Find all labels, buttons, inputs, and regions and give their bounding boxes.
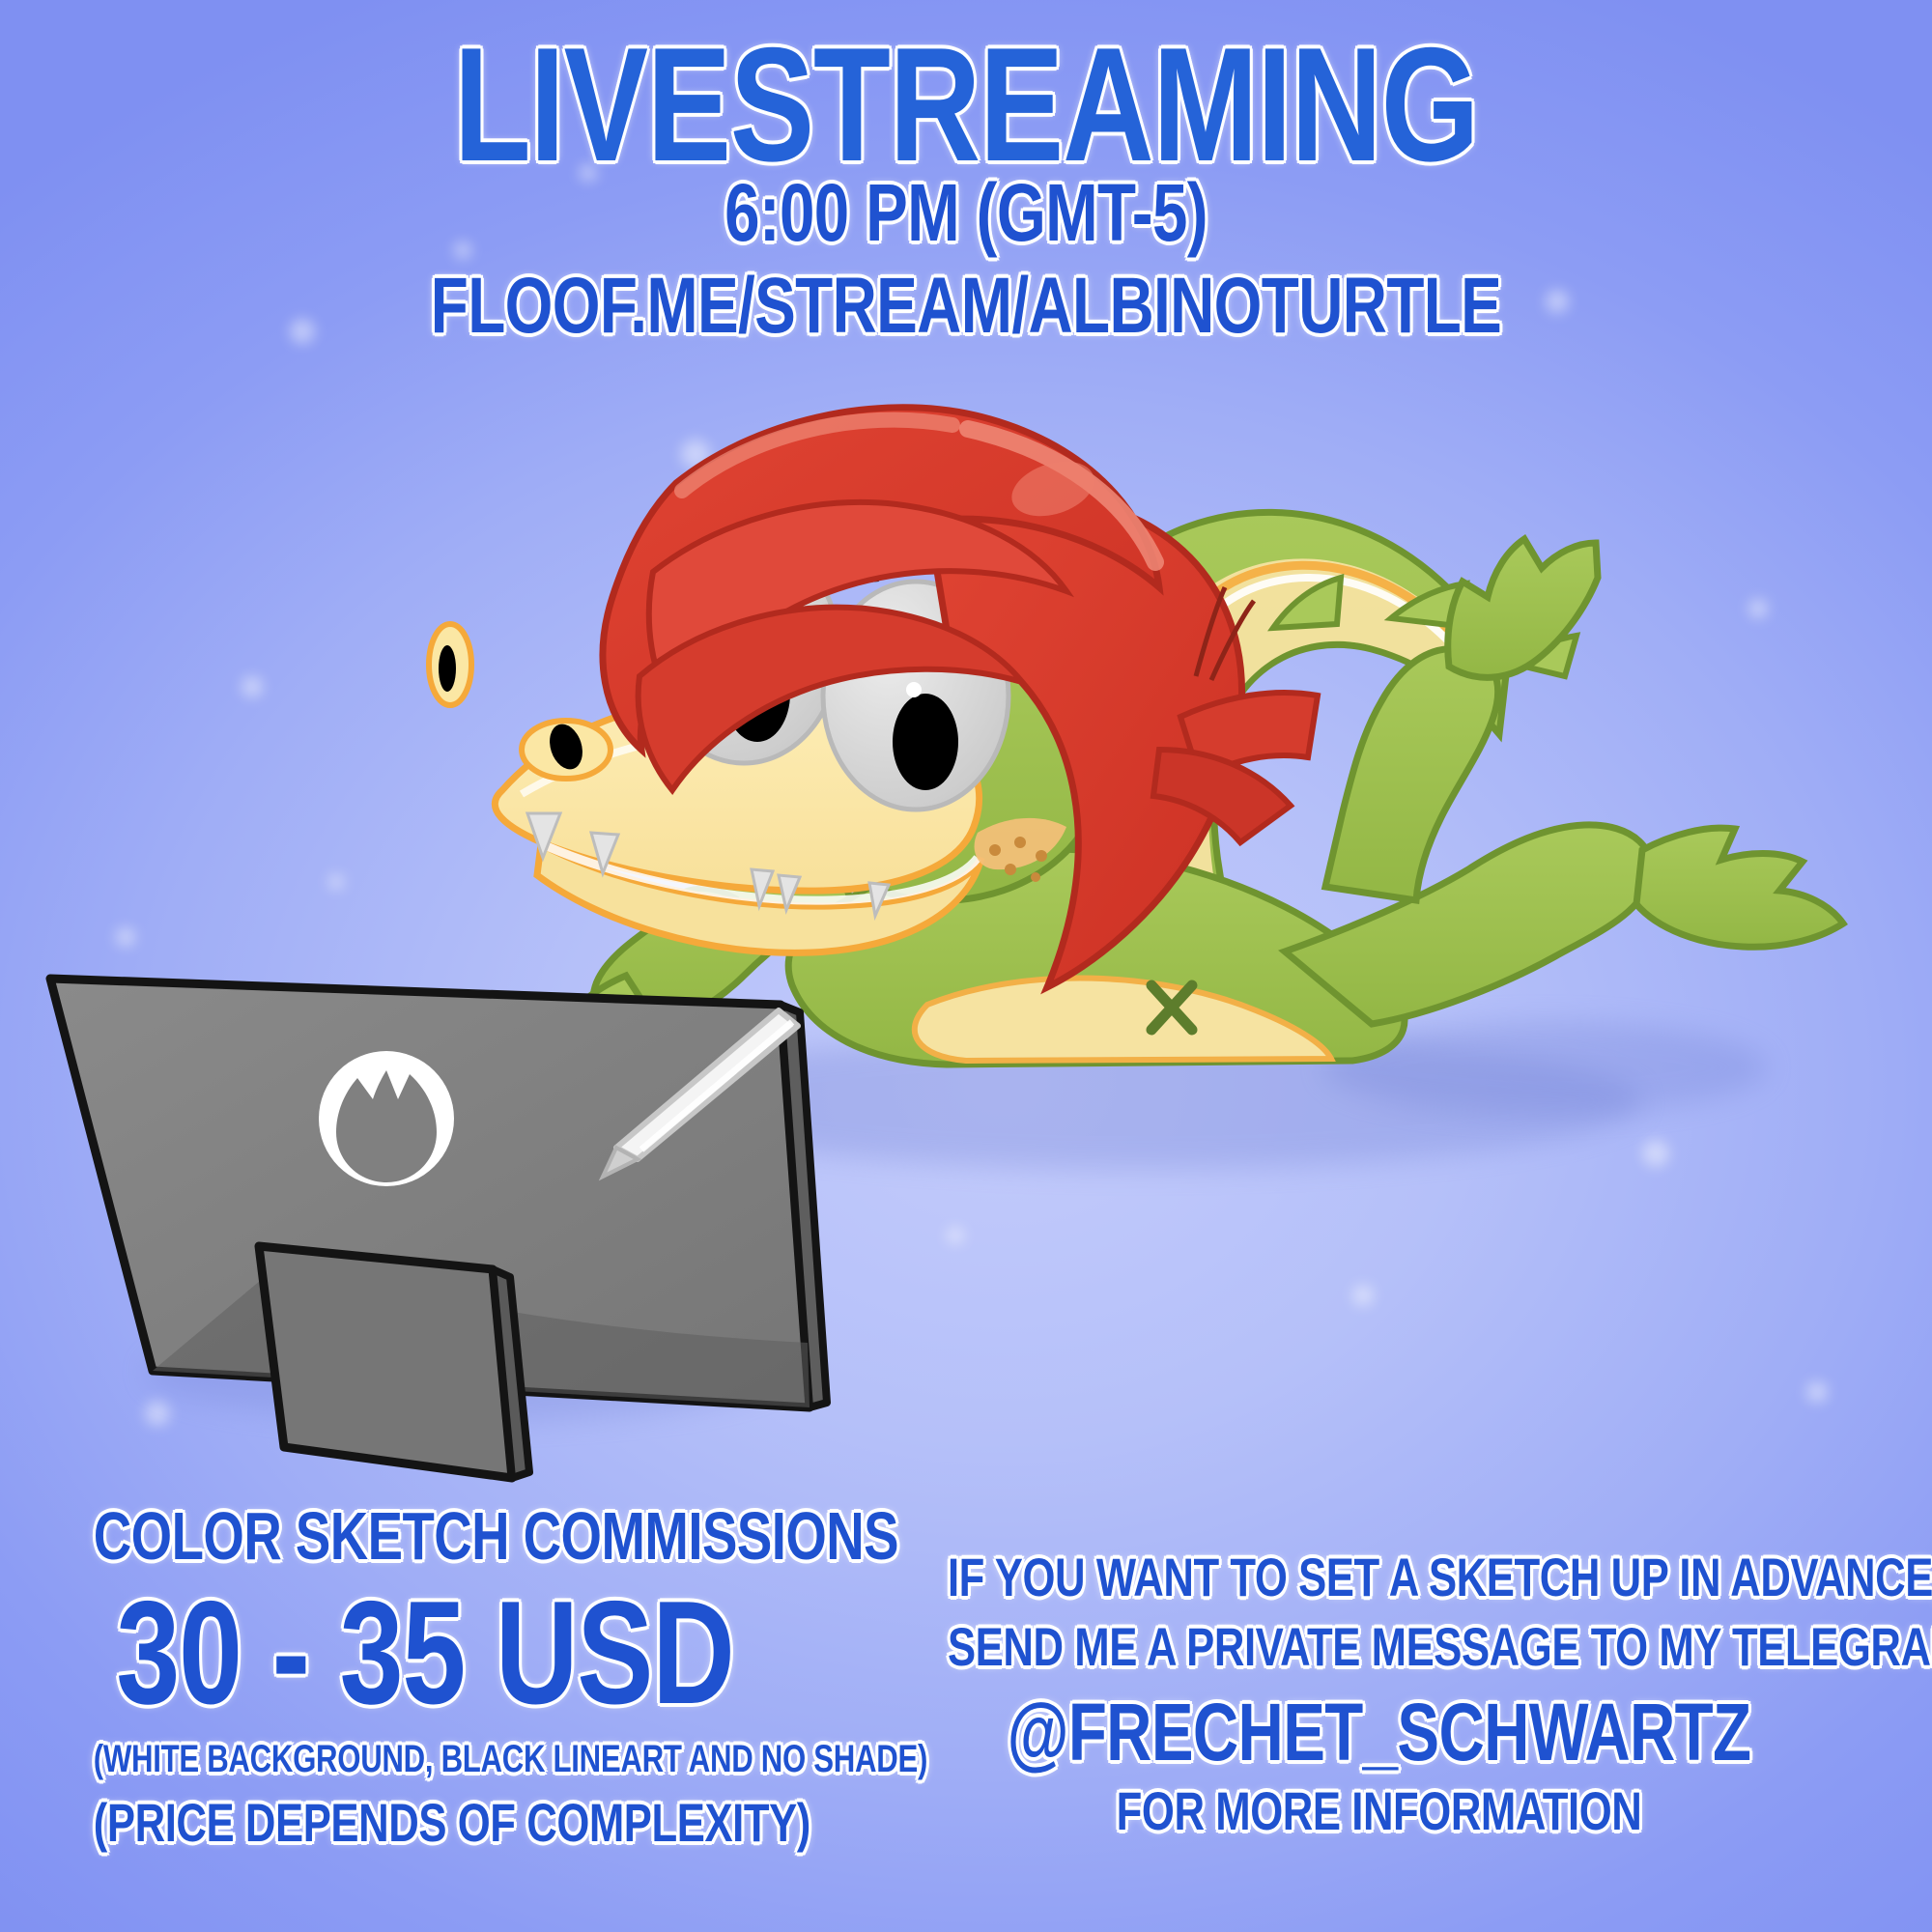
- price-note-complexity: (PRICE DEPENDS OF COMPLEXITY): [94, 1796, 756, 1850]
- contact-line-3: FOR MORE INFORMATION: [948, 1784, 1810, 1838]
- page-title: LIVESTREAMING: [213, 23, 1719, 185]
- commissions-heading: COLOR SKETCH COMMISSIONS: [94, 1502, 756, 1570]
- price-note-included: (WHITE BACKGROUND, BLACK LINEART AND NO …: [94, 1740, 756, 1778]
- contact-block: IF YOU WANT TO SET A SKETCH UP IN ADVANC…: [826, 1550, 1932, 1838]
- telegram-handle[interactable]: @FRECHET_SCHWARTZ: [948, 1691, 1810, 1773]
- price-range: 30 - 35 USD: [94, 1579, 756, 1726]
- contact-line-2: SEND ME A PRIVATE MESSAGE TO MY TELEGRAM: [948, 1620, 1810, 1674]
- pricing-block: COLOR SKETCH COMMISSIONS 30 - 35 USD (WH…: [0, 1502, 850, 1850]
- poster-canvas: LIVESTREAMING 6:00 PM (GMT-5) FLOOF.ME/S…: [0, 0, 1932, 1932]
- contact-line-1: IF YOU WANT TO SET A SKETCH UP IN ADVANC…: [948, 1550, 1810, 1605]
- stream-url[interactable]: FLOOF.ME/STREAM/ALBINOTURTLE: [213, 267, 1719, 346]
- stream-time: 6:00 PM (GMT-5): [213, 172, 1719, 253]
